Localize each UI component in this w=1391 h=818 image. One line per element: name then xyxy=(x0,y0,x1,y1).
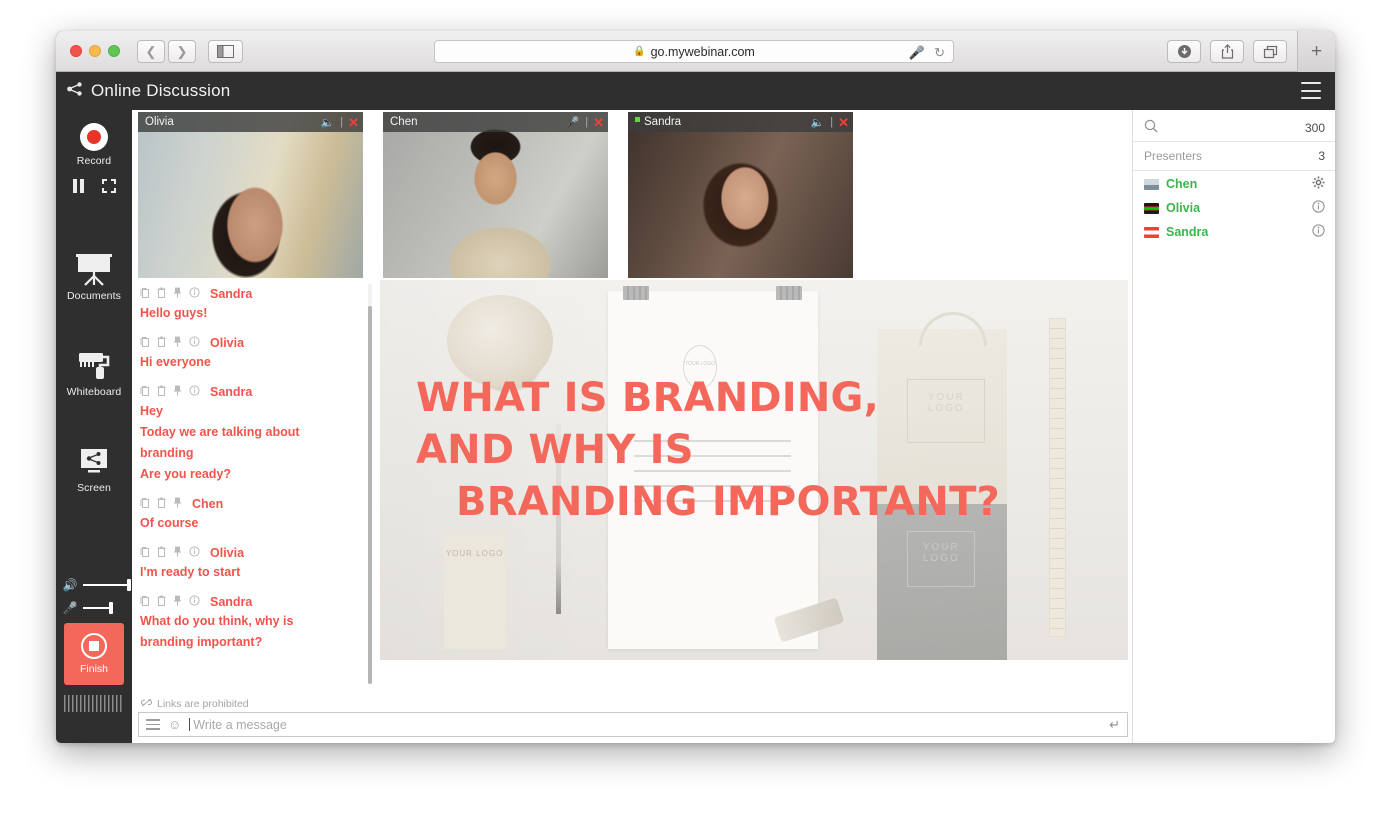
chat-message-author: Olivia xyxy=(210,336,244,350)
slide-title-line-1: WHAT IS BRANDING, xyxy=(416,372,1076,424)
new-tab-button[interactable]: + xyxy=(1297,31,1335,72)
download-icon xyxy=(1177,44,1192,59)
paint-roller-icon xyxy=(74,348,114,382)
lock-icon: 🔒 xyxy=(633,46,645,57)
speaker-volume-slider[interactable]: 🔊 xyxy=(56,578,132,592)
video-tile-header: Chen 🎤 | ✕ xyxy=(383,112,608,132)
flag-ke-icon xyxy=(1144,203,1159,214)
list-menu-icon[interactable] xyxy=(146,719,160,730)
trash-icon[interactable] xyxy=(157,497,166,511)
record-icon xyxy=(80,123,108,151)
chat-panel: SandraHello guys!OliviaHi everyoneSandra… xyxy=(132,280,380,713)
trash-icon[interactable] xyxy=(157,385,166,399)
info-icon[interactable] xyxy=(189,385,200,399)
chat-message-author: Sandra xyxy=(210,595,252,609)
bag-handle xyxy=(919,312,987,346)
tab-overview-button[interactable] xyxy=(1253,40,1287,63)
chat-message-list[interactable]: SandraHello guys!OliviaHi everyoneSandra… xyxy=(132,280,380,686)
slide-title-line-2: AND WHY IS xyxy=(416,424,1076,476)
chat-message: OliviaHi everyone xyxy=(140,335,362,372)
fullscreen-icon[interactable] xyxy=(102,179,116,193)
browser-window: ❮ ❯ 🔒 go.mywebinar.com 🎤 ↻ xyxy=(56,31,1335,743)
speaker-icon[interactable]: 🔈 xyxy=(811,116,825,129)
pin-icon[interactable] xyxy=(173,595,182,609)
finish-button[interactable]: Finish xyxy=(64,623,124,685)
divider: | xyxy=(585,116,588,128)
copy-icon[interactable] xyxy=(140,385,150,399)
page-title: Online Discussion xyxy=(91,81,230,101)
sidebar-item-documents[interactable]: Documents xyxy=(56,252,132,302)
video-tile-chen[interactable]: Chen 🎤 | ✕ xyxy=(383,112,608,278)
gear-icon[interactable] xyxy=(1312,176,1325,192)
sidebar-toggle-button[interactable] xyxy=(208,40,243,63)
text-caret xyxy=(189,718,190,731)
chat-message-text: What do you think, why is xyxy=(140,612,362,631)
browser-titlebar: ❮ ❯ 🔒 go.mywebinar.com 🎤 ↻ xyxy=(56,31,1335,72)
reload-icon[interactable]: ↻ xyxy=(934,45,945,61)
stop-icon xyxy=(81,633,107,659)
chat-message-text: branding xyxy=(140,444,362,463)
flag-kr-icon xyxy=(1144,179,1159,190)
copy-icon[interactable] xyxy=(140,497,150,511)
chat-message: SandraWhat do you think, why isbranding … xyxy=(140,594,362,652)
url-text: go.mywebinar.com xyxy=(651,45,755,59)
window-maximize-button[interactable] xyxy=(108,45,120,57)
chat-message-text: Of course xyxy=(140,514,362,533)
chat-message-header: Sandra xyxy=(140,384,362,400)
chat-message-text: branding important? xyxy=(140,633,362,652)
chat-message-text: Hey xyxy=(140,402,362,421)
sidebar-toggle-icon xyxy=(217,45,234,58)
chat-message-text: Are you ready? xyxy=(140,465,362,484)
record-label: Record xyxy=(77,155,111,167)
tool-rail: Record Documents xyxy=(56,110,132,743)
slide-title-line-3: BRANDING IMPORTANT? xyxy=(416,476,1076,528)
pin-icon[interactable] xyxy=(173,497,182,511)
links-prohibited-text: Links are prohibited xyxy=(157,698,249,710)
link-broken-icon xyxy=(141,698,152,710)
participants-panel: 300 Presenters 3 ChenOliviaSandra xyxy=(1132,110,1335,743)
share-icon[interactable] xyxy=(67,82,83,101)
chat-message: SandraHello guys! xyxy=(140,286,362,323)
sidebar-item-screen[interactable]: Screen xyxy=(56,444,132,494)
pause-icon[interactable] xyxy=(73,179,84,193)
video-tile-name: Chen xyxy=(390,116,566,128)
divider: | xyxy=(830,116,833,128)
close-icon[interactable]: ✕ xyxy=(838,116,849,129)
binder-clip-icon xyxy=(623,286,649,300)
presentation-board-icon xyxy=(74,252,114,286)
back-button[interactable]: ❮ xyxy=(137,40,165,63)
chat-message-author: Sandra xyxy=(210,385,252,399)
copy-icon[interactable] xyxy=(140,287,150,301)
chat-message-author: Olivia xyxy=(210,546,244,560)
binder-clip-icon xyxy=(776,286,802,300)
search-icon xyxy=(1144,119,1158,136)
video-strip: Olivia 🔈 | ✕ Chen 🎤 | ✕ xyxy=(138,112,1128,278)
presenter-row[interactable]: Sandra xyxy=(1133,221,1335,243)
video-tile-header: Olivia 🔈 | ✕ xyxy=(138,112,363,132)
pin-icon[interactable] xyxy=(173,287,182,301)
browser-toolbar-right xyxy=(1167,40,1287,63)
presenter-name: Chen xyxy=(1166,177,1312,191)
sidebar-label-screen: Screen xyxy=(77,482,111,494)
slide-stage[interactable]: YOUR LOGO YOUR LOGO YOUR LOGO YOUR LOGO xyxy=(380,280,1128,660)
chat-message: OliviaI'm ready to start xyxy=(140,545,362,582)
divider: | xyxy=(340,116,343,128)
forward-button[interactable]: ❯ xyxy=(168,40,196,63)
window-close-button[interactable] xyxy=(70,45,82,57)
tab-overview-icon xyxy=(1263,45,1278,59)
emoji-icon[interactable]: ☺ xyxy=(168,717,181,732)
trash-icon[interactable] xyxy=(157,336,166,350)
close-icon[interactable]: ✕ xyxy=(348,116,359,129)
video-tile-sandra[interactable]: Sandra 🔈 | ✕ xyxy=(628,112,853,278)
presenters-group-header[interactable]: Presenters 3 xyxy=(1133,142,1335,171)
downloads-button[interactable] xyxy=(1167,40,1201,63)
speaker-icon[interactable]: 🔈 xyxy=(321,116,335,129)
share-button[interactable] xyxy=(1210,40,1244,63)
drag-grip-icon[interactable] xyxy=(64,695,124,712)
video-feed xyxy=(138,112,363,278)
pin-icon[interactable] xyxy=(173,546,182,560)
app-header: Online Discussion xyxy=(56,72,1335,110)
chat-message-text: Hi everyone xyxy=(140,353,362,372)
presenters-count: 3 xyxy=(1318,149,1325,163)
info-icon[interactable] xyxy=(189,287,200,301)
record-button[interactable]: Record xyxy=(56,110,132,167)
trash-icon[interactable] xyxy=(157,546,166,560)
volume-controls: 🔊 🎤 xyxy=(56,578,132,624)
url-bar[interactable]: 🔒 go.mywebinar.com 🎤 ↻ xyxy=(434,40,954,63)
slide-title: WHAT IS BRANDING, AND WHY IS BRANDING IM… xyxy=(416,372,1076,528)
video-feed xyxy=(628,112,853,278)
trash-icon[interactable] xyxy=(157,287,166,301)
chat-message-header: Chen xyxy=(140,496,362,512)
presenter-row[interactable]: Chen xyxy=(1133,173,1335,195)
chat-scrollbar-thumb[interactable] xyxy=(368,306,372,684)
video-feed xyxy=(383,112,608,278)
chat-message-text: I'm ready to start xyxy=(140,563,362,582)
chevron-left-icon: ❮ xyxy=(146,45,157,58)
chat-message: SandraHeyToday we are talking aboutbrand… xyxy=(140,384,362,484)
sidebar-item-whiteboard[interactable]: Whiteboard xyxy=(56,348,132,398)
window-minimize-button[interactable] xyxy=(89,45,101,57)
enter-return-icon[interactable]: ↵ xyxy=(1109,717,1120,733)
speaker-icon: 🔊 xyxy=(62,578,78,592)
pin-icon[interactable] xyxy=(173,385,182,399)
hang-tag: YOUR LOGO xyxy=(444,531,506,649)
chat-message-author: Chen xyxy=(192,497,223,511)
info-icon[interactable] xyxy=(1312,224,1325,240)
finish-label: Finish xyxy=(80,663,108,675)
presenters-label: Presenters xyxy=(1144,149,1318,163)
message-composer[interactable]: ☺ Write a message ↵ xyxy=(138,712,1128,737)
info-icon[interactable] xyxy=(1312,200,1325,216)
video-tile-header: Sandra 🔈 | ✕ xyxy=(628,112,853,132)
gray-bag-logo: YOUR LOGO xyxy=(907,531,975,587)
chat-message-text: Hello guys! xyxy=(140,304,362,323)
microphone-icon[interactable]: 🎤 xyxy=(909,45,925,61)
participant-search-row[interactable]: 300 xyxy=(1133,114,1335,142)
links-prohibited-note: Links are prohibited xyxy=(141,698,249,710)
sidebar-label-whiteboard: Whiteboard xyxy=(67,386,122,398)
live-indicator-icon xyxy=(635,117,640,122)
screen-share-icon xyxy=(74,444,114,478)
chat-message-header: Olivia xyxy=(140,335,362,351)
microphone-volume-slider[interactable]: 🎤 xyxy=(56,601,132,615)
chevron-right-icon: ❯ xyxy=(177,45,188,58)
trash-icon[interactable] xyxy=(157,595,166,609)
record-controls xyxy=(56,179,132,193)
sidebar-label-documents: Documents xyxy=(67,290,121,302)
main-stage: Olivia 🔈 | ✕ Chen 🎤 | ✕ xyxy=(132,110,1132,743)
app-body: Record Documents xyxy=(56,110,1335,743)
microphone-icon[interactable]: 🎤 xyxy=(566,116,580,129)
share-icon xyxy=(1221,44,1234,59)
close-icon[interactable]: ✕ xyxy=(593,116,604,129)
copy-icon[interactable] xyxy=(140,595,150,609)
info-icon[interactable] xyxy=(189,595,200,609)
presenter-list: ChenOliviaSandra xyxy=(1133,173,1335,243)
pin-icon[interactable] xyxy=(173,336,182,350)
presenter-row[interactable]: Olivia xyxy=(1133,197,1335,219)
microphone-icon: 🎤 xyxy=(62,601,78,615)
video-tile-olivia[interactable]: Olivia 🔈 | ✕ xyxy=(138,112,363,278)
chat-message-author: Sandra xyxy=(210,287,252,301)
chat-message-header: Olivia xyxy=(140,545,362,561)
chat-message-header: Sandra xyxy=(140,286,362,302)
copy-icon[interactable] xyxy=(140,336,150,350)
chat-message-text: Today we are talking about xyxy=(140,423,362,442)
chat-message: ChenOf course xyxy=(140,496,362,533)
presenter-name: Sandra xyxy=(1166,225,1312,239)
message-input[interactable]: Write a message xyxy=(193,718,1109,732)
copy-icon[interactable] xyxy=(140,546,150,560)
video-tile-name: Sandra xyxy=(644,116,811,128)
hamburger-menu-icon[interactable] xyxy=(1301,82,1321,99)
plus-icon: + xyxy=(1311,41,1322,63)
presenter-name: Olivia xyxy=(1166,201,1312,215)
info-icon[interactable] xyxy=(189,336,200,350)
flag-at-icon xyxy=(1144,227,1159,238)
participant-total-count: 300 xyxy=(1305,121,1325,135)
video-tile-name: Olivia xyxy=(145,116,321,128)
chat-message-header: Sandra xyxy=(140,594,362,610)
info-icon[interactable] xyxy=(189,546,200,560)
